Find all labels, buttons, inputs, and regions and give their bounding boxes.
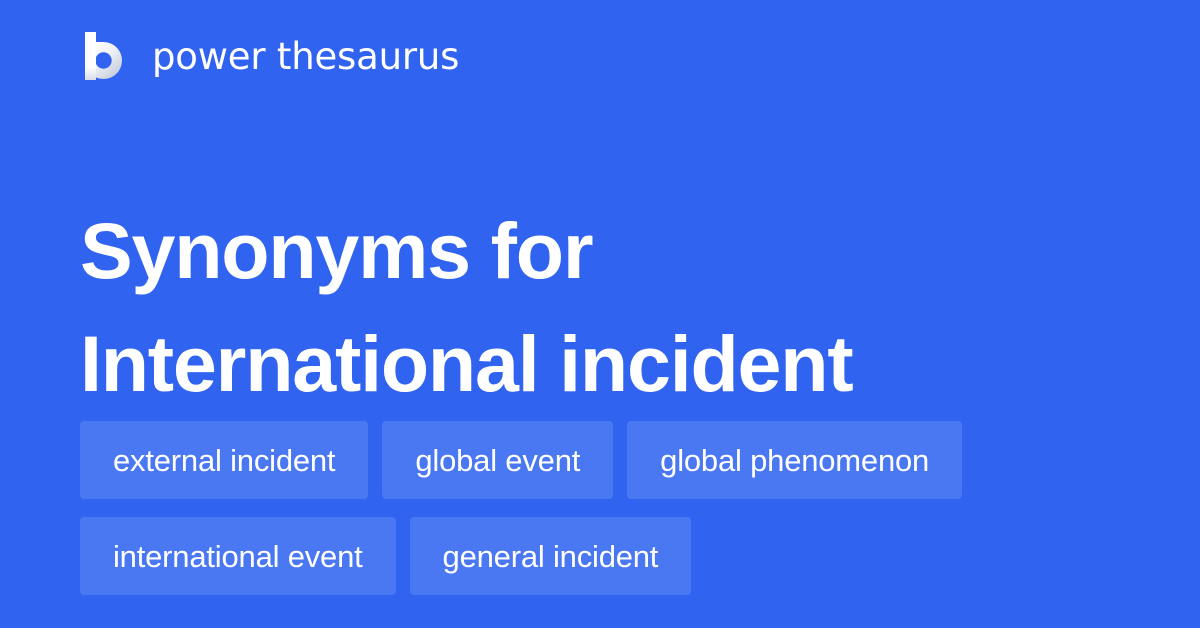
synonym-chip[interactable]: general incident <box>410 517 692 595</box>
brand-header[interactable]: power thesaurus <box>80 30 459 82</box>
page-title: Synonyms for International incident <box>80 194 1140 420</box>
synonym-chip[interactable]: international event <box>80 517 396 595</box>
brand-name: power thesaurus <box>152 38 459 75</box>
power-thesaurus-b-logo-icon <box>80 32 126 80</box>
synonym-card: power thesaurus Synonyms for Internation… <box>0 0 1200 628</box>
page-title-line-2: International incident <box>80 307 1140 420</box>
synonym-chip[interactable]: external incident <box>80 421 368 499</box>
synonym-chip[interactable]: global event <box>382 421 613 499</box>
synonym-chip-list: external incident global event global ph… <box>80 421 1140 595</box>
page-title-line-1: Synonyms for <box>80 194 1140 307</box>
synonym-chip[interactable]: global phenomenon <box>627 421 962 499</box>
